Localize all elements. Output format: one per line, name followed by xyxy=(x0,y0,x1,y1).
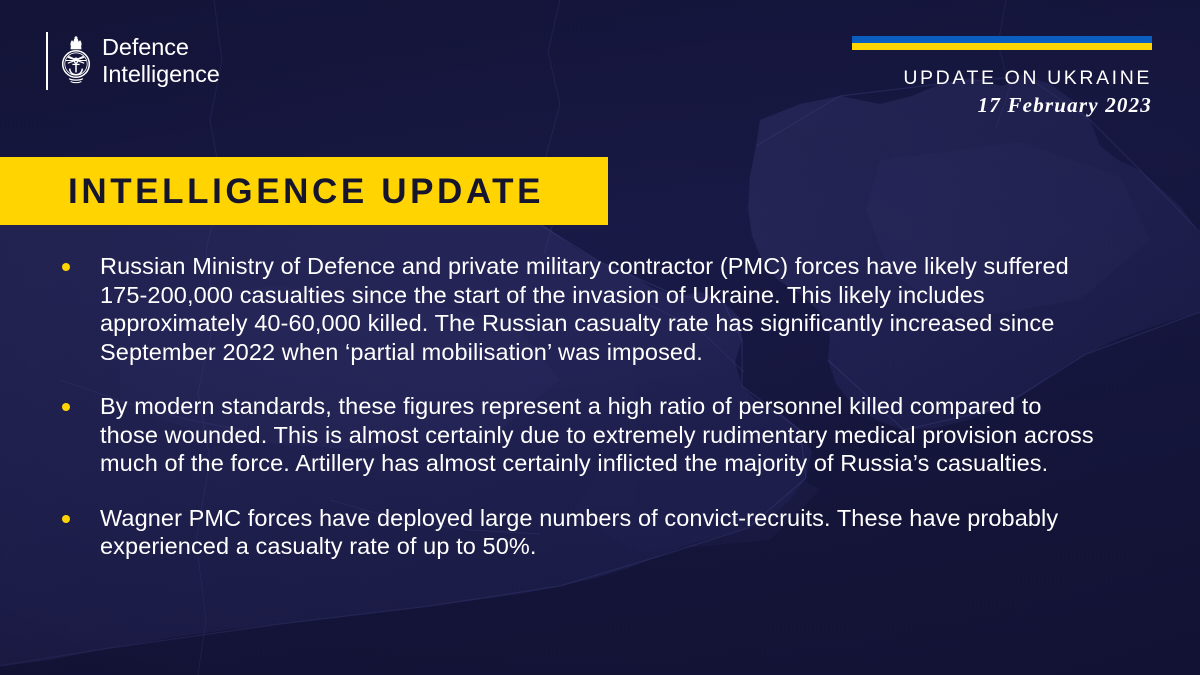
list-item: Russian Ministry of Defence and private … xyxy=(62,252,1152,366)
update-date: 17 February 2023 xyxy=(832,93,1152,118)
bullet-list: Russian Ministry of Defence and private … xyxy=(62,252,1152,561)
flag-stripe-blue xyxy=(852,36,1152,43)
bullet-text: Russian Ministry of Defence and private … xyxy=(100,252,1100,366)
bullet-dot-icon xyxy=(62,403,70,411)
bullet-dot-icon xyxy=(62,263,70,271)
bullet-dot-icon xyxy=(62,515,70,523)
intelligence-update-slide: Defence Intelligence UPDATE ON UKRAINE 1… xyxy=(0,0,1200,675)
defence-intelligence-logo: Defence Intelligence xyxy=(46,30,220,92)
logo-line-defence: Defence xyxy=(102,34,220,61)
ukraine-flag-icon xyxy=(852,36,1152,50)
logo-divider-rule xyxy=(46,32,48,90)
royal-crest-icon xyxy=(61,33,91,89)
flag-stripe-yellow xyxy=(852,43,1152,50)
list-item: Wagner PMC forces have deployed large nu… xyxy=(62,504,1152,561)
logo-line-intelligence: Intelligence xyxy=(102,61,220,88)
bullet-text: By modern standards, these figures repre… xyxy=(100,392,1100,478)
list-item: By modern standards, these figures repre… xyxy=(62,392,1152,478)
update-on-ukraine-title: UPDATE ON UKRAINE xyxy=(832,67,1152,90)
intelligence-update-banner: INTELLIGENCE UPDATE xyxy=(0,157,608,225)
header-right-block: UPDATE ON UKRAINE 17 February 2023 xyxy=(832,36,1152,118)
bullet-text: Wagner PMC forces have deployed large nu… xyxy=(100,504,1100,561)
banner-label: INTELLIGENCE UPDATE xyxy=(68,174,544,209)
